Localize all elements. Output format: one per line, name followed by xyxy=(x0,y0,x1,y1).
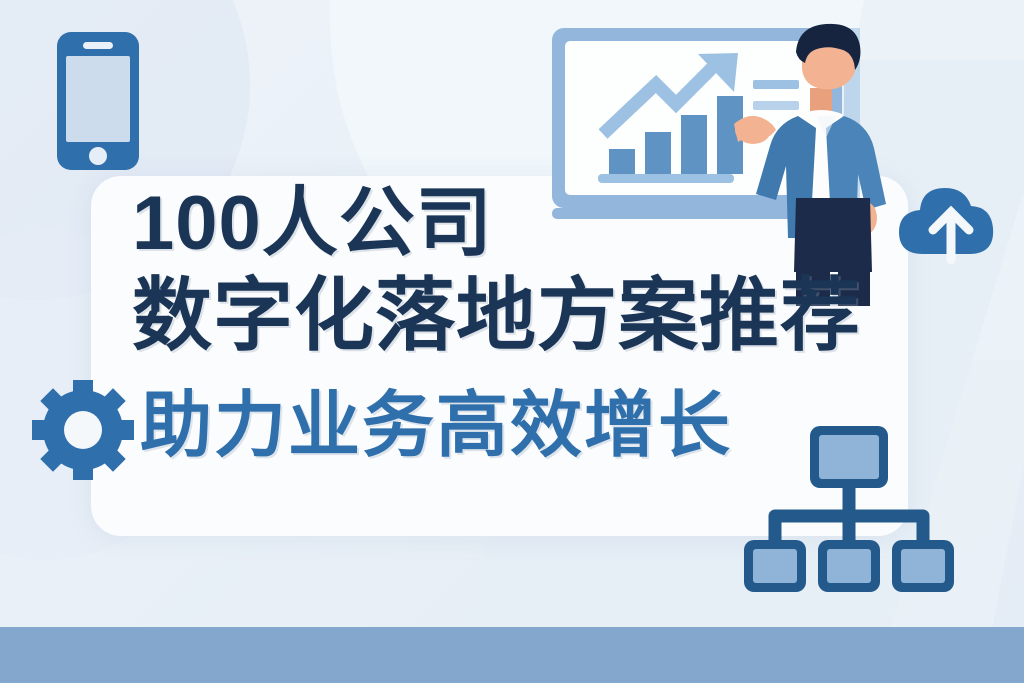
cloud-upload-icon xyxy=(895,178,1007,269)
gear-icon xyxy=(30,378,136,487)
org-chart-icon xyxy=(742,418,957,601)
bottom-color-band xyxy=(0,627,1024,683)
smartphone-icon xyxy=(55,30,141,177)
poster-canvas: 100人公司 数字化落地方案推荐 助力业务高效增长 xyxy=(0,0,1024,683)
subheadline: 助力业务高效增长 xyxy=(140,390,732,462)
presenter-illustration xyxy=(548,22,918,307)
